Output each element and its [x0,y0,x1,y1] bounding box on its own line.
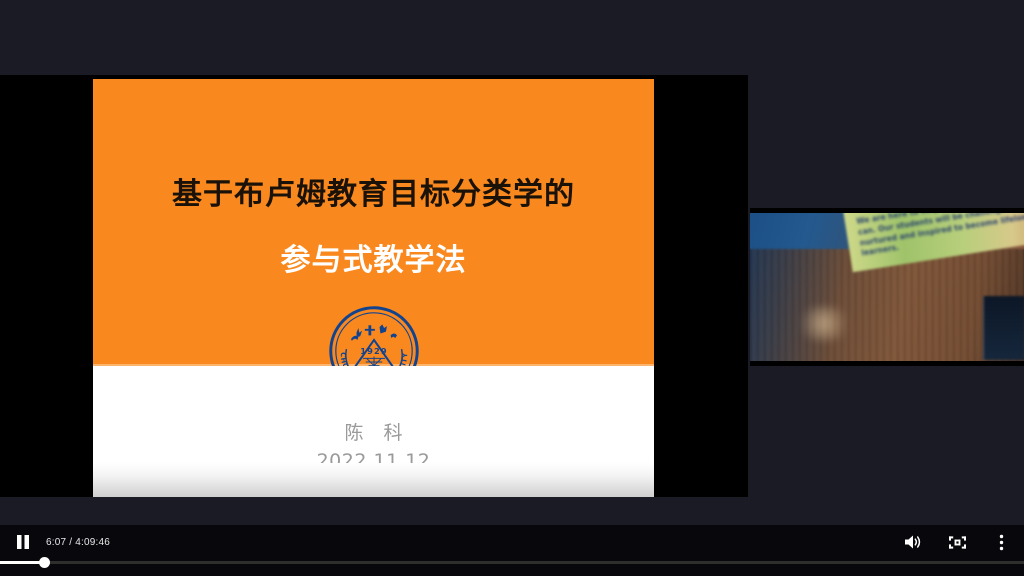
progress-bar[interactable] [0,557,1024,567]
camera-letterbox-top [750,208,1024,213]
presenter-camera-thumbnail[interactable]: We are here to help you in every way we … [750,208,1024,366]
more-options-button[interactable] [990,531,1012,553]
progress-fill [0,561,44,564]
player-left-controls: 6:07 / 4:09:46 [12,531,110,553]
slide-footer-gradient-band [93,463,654,497]
slide-presenter-name: 陈 科 [93,418,654,445]
time-display: 6:07 / 4:09:46 [46,537,110,548]
slide-title-line-2: 参与式教学法 [93,235,654,279]
camera-window [983,296,1024,359]
camera-letterbox-bottom [750,361,1024,366]
progress-track[interactable] [0,561,1024,564]
camera-video-frame: We are here to help you in every way we … [750,208,1024,366]
presentation-slide[interactable]: 基于布卢姆教育目标分类学的 参与式教学法 1929 [93,79,654,497]
player-right-controls [902,531,1012,553]
pause-button[interactable] [12,531,34,553]
player-control-bar: 6:07 / 4:09:46 [0,525,1024,576]
volume-button[interactable] [902,531,924,553]
slide-title-line-1: 基于布卢姆教育目标分类学的 [93,169,654,213]
exit-fullscreen-button[interactable] [946,531,968,553]
video-player-stage: 基于布卢姆教育目标分类学的 参与式教学法 1929 [0,0,1024,576]
camera-light-glare [794,306,854,341]
progress-handle[interactable] [39,557,50,568]
slide-white-footer: 陈 科 2022.11.12 [93,366,654,497]
svg-text:1929: 1929 [360,346,387,356]
